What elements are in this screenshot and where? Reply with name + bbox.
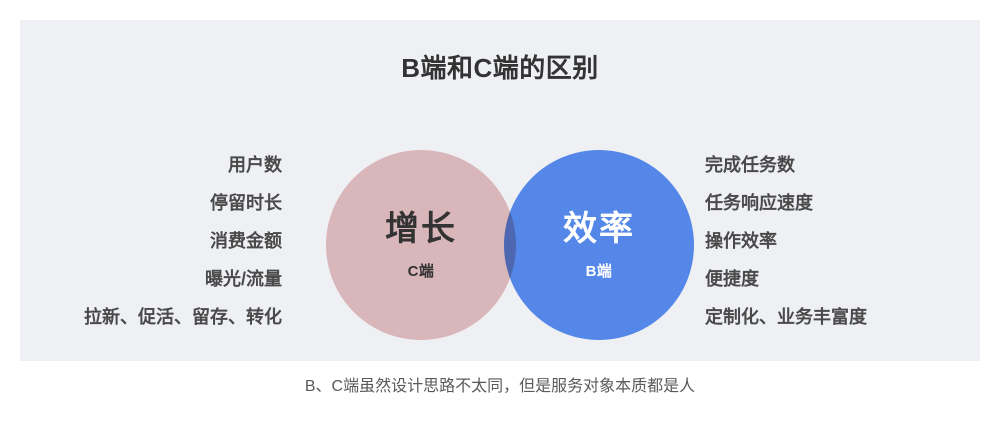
figure-caption: B、C端虽然设计思路不太同，但是服务对象本质都是人: [0, 376, 1000, 398]
list-item: 用户数: [228, 146, 282, 184]
list-item: 消费金额: [210, 222, 282, 260]
list-item: 完成任务数: [705, 146, 795, 184]
right-metric-list: 完成任务数 任务响应速度 操作效率 便捷度 定制化、业务丰富度: [705, 146, 980, 336]
slide-canvas: B端和C端的区别 用户数 停留时长 消费金额 曝光/流量 拉新、促活、留存、转化…: [0, 0, 1000, 425]
left-metric-list: 用户数 停留时长 消费金额 曝光/流量 拉新、促活、留存、转化: [20, 146, 282, 336]
content-card: B端和C端的区别 用户数 停留时长 消费金额 曝光/流量 拉新、促活、留存、转化…: [20, 20, 980, 361]
page-title: B端和C端的区别: [20, 52, 980, 84]
venn-circle-b-side: [504, 150, 694, 340]
list-item: 操作效率: [705, 222, 777, 260]
list-item: 曝光/流量: [205, 260, 282, 298]
list-item: 定制化、业务丰富度: [705, 298, 867, 336]
list-item: 停留时长: [210, 184, 282, 222]
list-item: 便捷度: [705, 260, 759, 298]
venn-circle-c-side: [326, 150, 516, 340]
list-item: 拉新、促活、留存、转化: [84, 298, 282, 336]
venn-diagram: 增长 C端 效率 B端: [306, 130, 694, 340]
list-item: 任务响应速度: [705, 184, 813, 222]
